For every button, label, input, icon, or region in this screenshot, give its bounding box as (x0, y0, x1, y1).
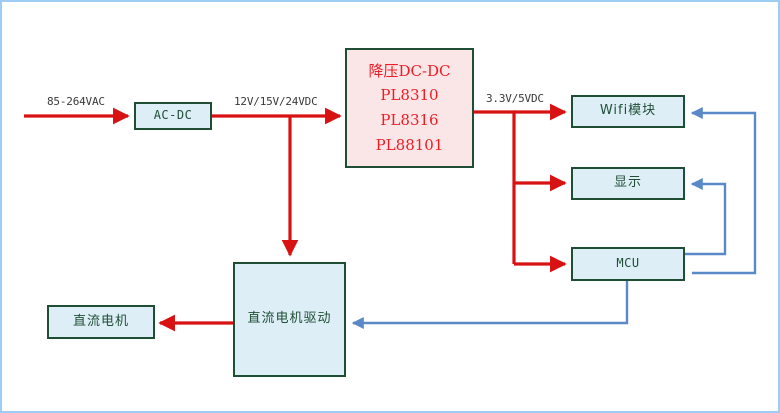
block-diagram-canvas: AC-DC 降压DC-DC PL8310 PL8316 PL88101 Wifi… (0, 0, 780, 413)
node-wifi-module[interactable]: Wifi模块 (571, 95, 685, 128)
node-display-label: 显示 (614, 176, 642, 191)
dcdc-line-title: 降压DC-DC (368, 62, 450, 80)
node-motor-driver-label: 直流电机驱动 (247, 312, 331, 327)
wire-mcu-to-display (685, 184, 725, 254)
node-display[interactable]: 显示 (571, 167, 685, 200)
node-dc-dc-converter-label: 降压DC-DC PL8310 PL8316 PL88101 (368, 59, 450, 158)
wire-label-logic-rail: 3.3V/5VDC (486, 92, 544, 105)
wire-mcu-to-wifi (692, 113, 755, 273)
node-dc-motor-label: 直流电机 (73, 315, 129, 330)
node-dc-dc-converter[interactable]: 降压DC-DC PL8310 PL8316 PL88101 (345, 48, 474, 168)
wire-label-ac-input: 85-264VAC (47, 95, 105, 108)
wire-logic-rail-trunk (474, 112, 514, 264)
node-dc-motor[interactable]: 直流电机 (47, 305, 155, 339)
dcdc-line-pl8310: PL8310 (380, 86, 438, 104)
wire-label-dc-bus: 12V/15V/24VDC (234, 95, 318, 108)
node-mcu[interactable]: MCU (571, 247, 685, 281)
node-mcu-label: MCU (616, 257, 639, 271)
node-motor-driver[interactable]: 直流电机驱动 (233, 262, 346, 377)
node-wifi-module-label: Wifi模块 (600, 104, 656, 119)
node-ac-dc-label: AC-DC (154, 109, 193, 123)
dcdc-line-pl88101: PL88101 (376, 136, 444, 154)
node-ac-dc[interactable]: AC-DC (134, 102, 212, 130)
dcdc-line-pl8316: PL8316 (380, 111, 438, 129)
wire-mcu-to-motor-driver (353, 281, 627, 323)
